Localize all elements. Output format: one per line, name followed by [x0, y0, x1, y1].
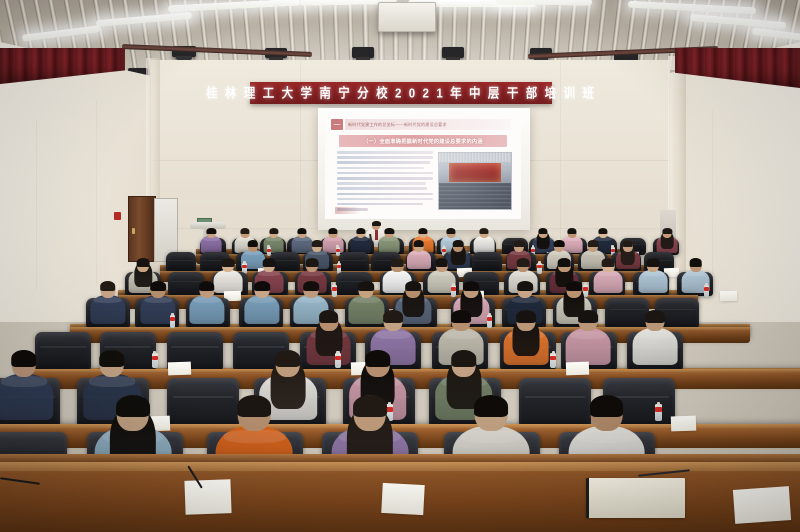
audience-chair: [166, 252, 196, 272]
water-bottle: [487, 315, 493, 329]
audience-member: [657, 228, 678, 254]
audience-member: [90, 281, 125, 326]
foreground-desk: [0, 462, 800, 532]
slide-photo-seats: [439, 183, 511, 209]
event-banner-text: 桂 林 理 工 大 学 南 宁 分 校 2 0 2 1 年 中 层 干 部 培 …: [206, 84, 596, 102]
slide-photo-stage: [449, 163, 501, 182]
audience-member: [350, 228, 371, 254]
audience-torso: [201, 236, 222, 252]
audience-member: [201, 228, 222, 254]
audience-hair: [353, 395, 387, 418]
lecture-hall-photo: 桂 林 理 工 大 学 南 宁 分 校 2 0 2 1 年 中 层 干 部 培 …: [0, 0, 800, 532]
audience-hair: [514, 240, 525, 247]
audience-hair: [11, 350, 37, 367]
audience-hair: [538, 228, 547, 234]
desk-paper: [168, 362, 191, 376]
audience-hair: [356, 228, 365, 234]
audience-hair: [579, 310, 599, 323]
audience-hair: [329, 228, 338, 234]
water-bottle: [704, 285, 709, 297]
audience-hair: [623, 240, 634, 247]
audience-hair: [590, 395, 624, 418]
audience-hair: [517, 258, 530, 267]
audience-hair: [100, 281, 116, 291]
audience-member: [379, 228, 400, 254]
audience-hair: [406, 281, 422, 291]
audience-hair: [558, 258, 571, 267]
audience-hair: [566, 281, 582, 291]
audience-hair: [474, 395, 508, 418]
audience-member: [189, 281, 224, 326]
audience-torso: [189, 295, 224, 324]
audience-hair: [453, 240, 464, 247]
audience-hair: [359, 281, 375, 291]
audience-member: [504, 310, 549, 367]
audience-hair: [517, 281, 533, 291]
audience-hair: [464, 281, 480, 291]
audience-hair: [306, 258, 319, 267]
audience-torso: [594, 270, 623, 293]
audience-hair: [480, 228, 489, 234]
audience-hair: [312, 240, 323, 247]
water-bottle: [550, 353, 556, 368]
slide-photo-ceiling: [439, 153, 511, 162]
audience-torso: [632, 328, 677, 365]
audience-hair: [254, 281, 270, 291]
projector-housing: [378, 2, 436, 32]
audience-hair: [391, 258, 404, 267]
water-bottle: [335, 353, 341, 368]
audience-hair: [99, 350, 125, 367]
paper-sheet: [381, 483, 425, 515]
slide-header: 一 新时代党建工作的总坐标——新时代党的建设总要求: [331, 119, 511, 130]
water-bottle: [655, 404, 662, 421]
open-notebook: [586, 478, 685, 518]
audience-hair: [150, 281, 166, 291]
audience-hair: [517, 310, 537, 323]
slide-subtitle-bar: （一）全面准确把握新时代党的建设总要求的内涵: [339, 135, 507, 147]
desk-paper: [566, 362, 589, 376]
audience-hair: [602, 258, 615, 267]
audience-torso: [245, 295, 280, 324]
audience-hair: [303, 281, 319, 291]
audience-hair: [689, 258, 702, 267]
water-bottle: [152, 353, 158, 368]
audience-hair: [207, 228, 216, 234]
slide-photo-hall: [438, 152, 512, 210]
desk-paper: [720, 291, 738, 302]
audience-hair: [451, 350, 477, 367]
audience-hair: [385, 228, 394, 234]
slide-footer-mark: [335, 207, 361, 214]
audience-hair: [599, 228, 608, 234]
presentation-slide: 一 新时代党建工作的总坐标——新时代党的建设总要求 （一）全面准确把握新时代党的…: [325, 114, 521, 219]
audience-hair: [263, 258, 276, 267]
audience-hair: [222, 258, 235, 267]
water-bottle: [332, 285, 337, 297]
paper-sheet: [184, 479, 231, 515]
audience-hair: [554, 240, 565, 247]
audience-torso: [90, 295, 125, 324]
speaker-hair: [372, 221, 381, 226]
audience-member: [639, 258, 668, 295]
slide-header-bar: 新时代党建工作的总坐标——新时代党的建设总要求: [345, 119, 511, 130]
audience-hair: [588, 240, 599, 247]
audience-hair: [116, 395, 150, 418]
water-bottle: [170, 315, 176, 329]
audience-chair: [339, 252, 369, 272]
audience-member: [245, 281, 280, 326]
audience-member: [566, 310, 611, 367]
projection-screen: 一 新时代党建工作的总坐标——新时代党的建设总要求 （一）全面准确把握新时代党的…: [318, 108, 530, 230]
audience-torso: [474, 236, 495, 252]
water-bottle: [537, 263, 542, 274]
audience-hair: [567, 228, 576, 234]
audience-hair: [446, 228, 455, 234]
audience-hair: [247, 240, 258, 247]
audience-torso: [566, 328, 611, 365]
audience-member: [633, 310, 678, 367]
audience-chair: [472, 252, 502, 272]
audience-torso: [379, 236, 400, 252]
audience-hair: [645, 310, 665, 323]
audience-hair: [647, 258, 660, 267]
pen: [0, 477, 40, 485]
audience-hair: [383, 310, 403, 323]
audience-torso: [350, 236, 371, 252]
audience-hair: [319, 310, 339, 323]
audience-member: [594, 258, 623, 295]
event-banner: 桂 林 理 工 大 学 南 宁 分 校 2 0 2 1 年 中 层 干 部 培 …: [250, 82, 552, 104]
audience-hair: [435, 258, 448, 267]
paper-sheet: [733, 486, 791, 524]
audience-torso: [639, 270, 668, 293]
audience-hair: [451, 310, 471, 323]
audience-member: [0, 350, 53, 423]
slide-header-text: 新时代党建工作的总坐标——新时代党的建设总要求: [345, 122, 447, 128]
exit-sign: [114, 212, 121, 220]
slide-text-block: [337, 151, 433, 213]
audience-hair: [137, 258, 150, 267]
audience-hair: [269, 228, 278, 234]
audience-hair: [240, 228, 249, 234]
audience-hair: [663, 228, 672, 234]
slide-section-number: 一: [331, 119, 343, 130]
audience-hair: [275, 350, 301, 367]
audience-hair: [298, 228, 307, 234]
audience-hair: [199, 281, 215, 291]
slide-subtitle-text: （一）全面准确把握新时代党的建设总要求的内涵: [363, 138, 483, 145]
audience-torso: [0, 374, 53, 420]
desk-paper: [671, 416, 697, 431]
audience-hair: [418, 228, 427, 234]
audience-member: [474, 228, 495, 254]
audience-hair: [237, 395, 271, 418]
audience-hair: [365, 350, 391, 367]
pen: [638, 469, 690, 476]
audience-hair: [414, 240, 425, 247]
